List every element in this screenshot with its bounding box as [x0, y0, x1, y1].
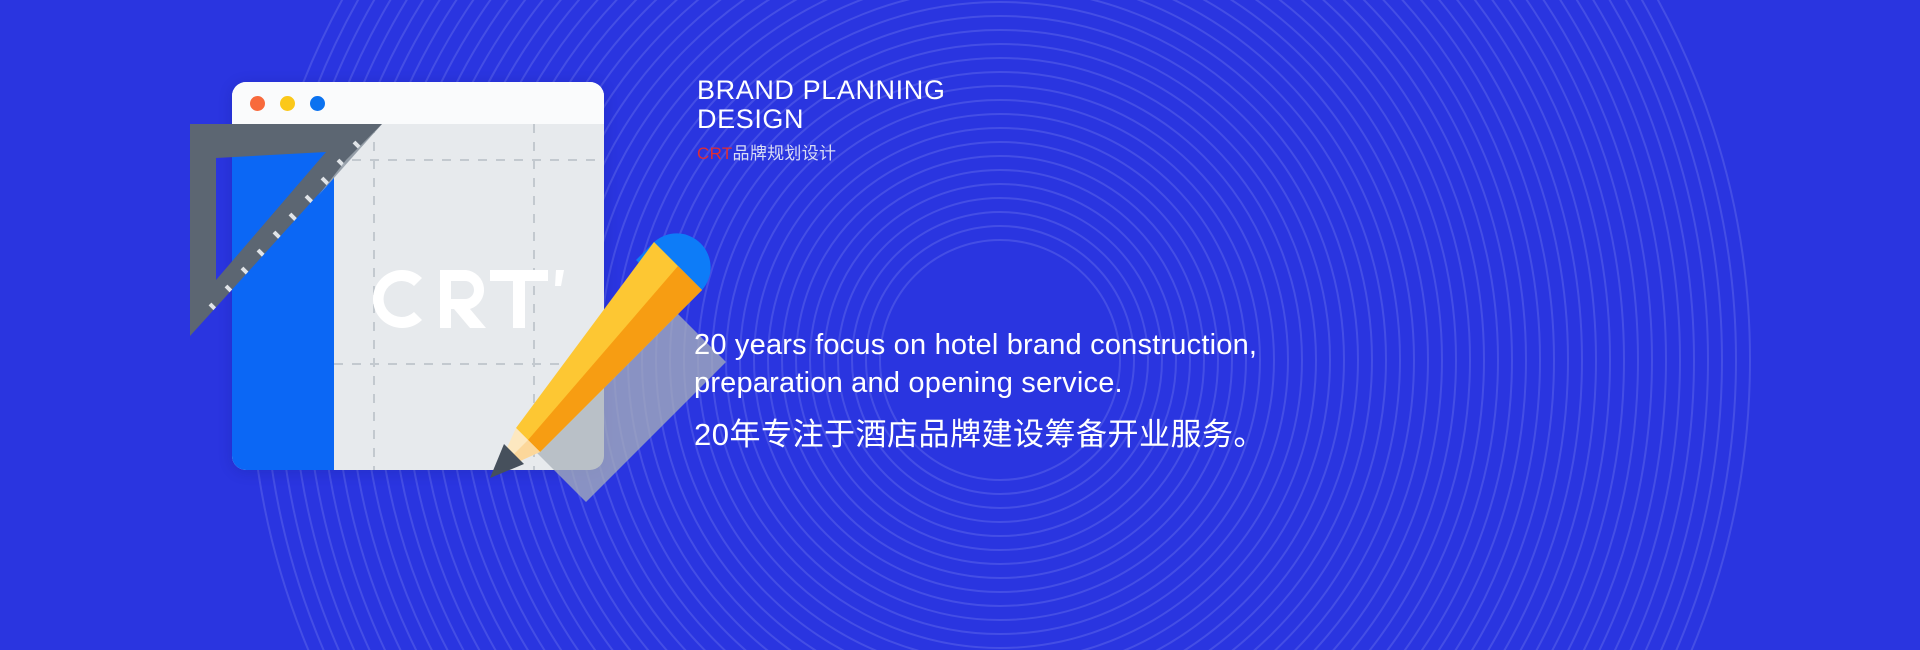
subheadline: CRT品牌规划设计 — [697, 144, 1397, 164]
maximize-dot-icon — [310, 96, 325, 111]
tagline-block: 20 years focus on hotel brand constructi… — [694, 326, 1434, 454]
brand-illustration — [188, 60, 708, 580]
card-titlebar — [232, 82, 604, 124]
brand-mark-text: CRT — [697, 144, 733, 163]
brand-banner: BRAND PLANNING DESIGN CRT品牌规划设计 20 years… — [0, 0, 1920, 650]
tagline-english: 20 years focus on hotel brand constructi… — [694, 326, 1434, 402]
close-dot-icon — [250, 96, 265, 111]
tagline-chinese: 20年专注于酒店品牌建设筹备开业服务。 — [694, 416, 1434, 454]
minimize-dot-icon — [280, 96, 295, 111]
triangle-ruler-icon — [186, 120, 386, 340]
headline-text: BRAND PLANNING DESIGN — [697, 76, 1397, 134]
pencil-icon — [468, 220, 728, 490]
subheadline-cn: 品牌规划设计 — [733, 144, 837, 163]
headline-block: BRAND PLANNING DESIGN CRT品牌规划设计 — [697, 76, 1397, 164]
